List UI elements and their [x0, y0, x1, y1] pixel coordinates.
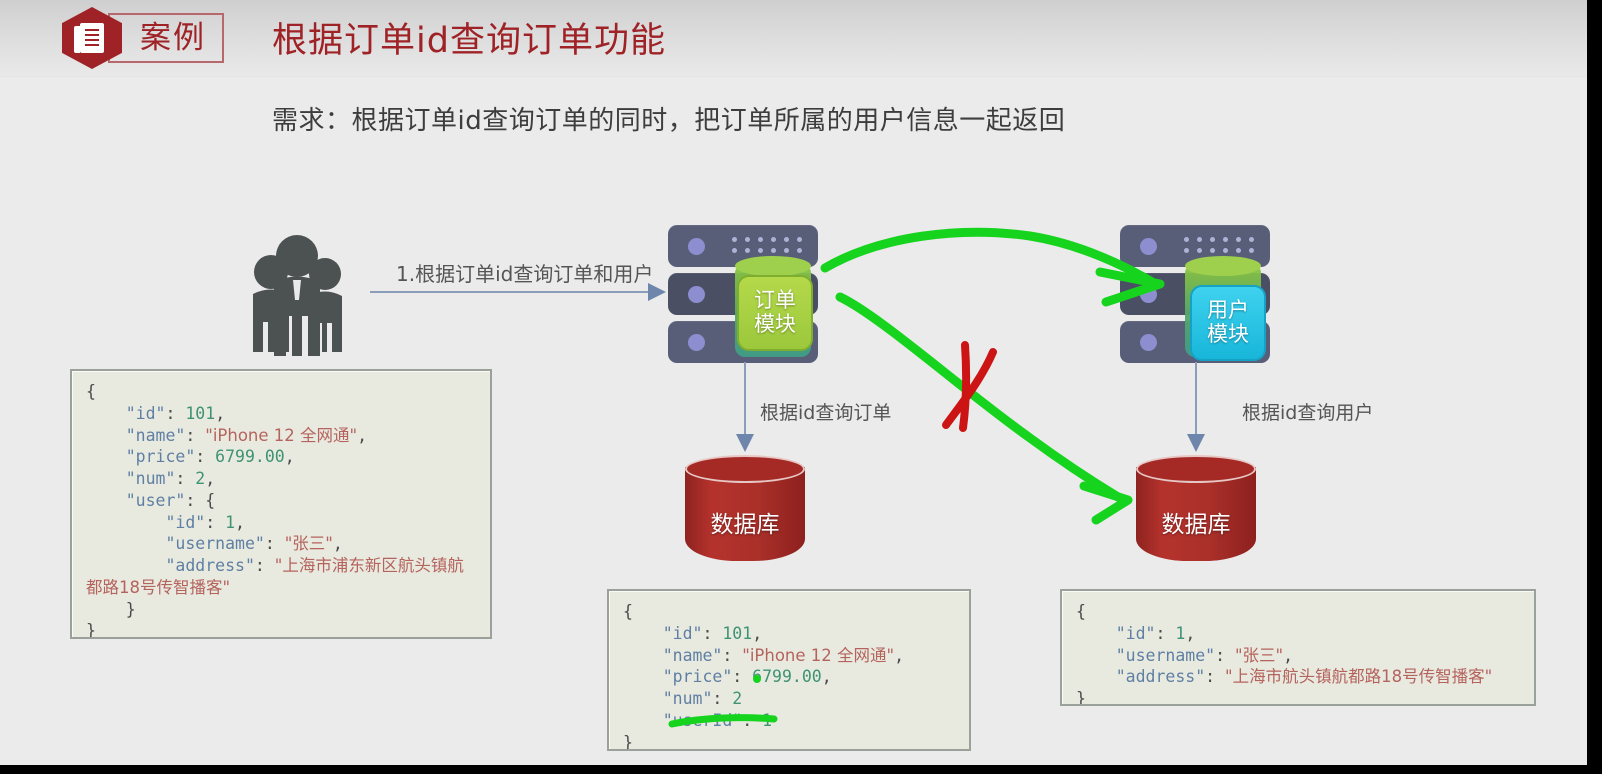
json-line: } — [1076, 688, 1520, 706]
json-token: } — [86, 621, 96, 639]
json-token: : — [742, 711, 762, 730]
user-database-label: 数据库 — [1136, 505, 1256, 539]
json-token: : — [166, 404, 186, 423]
json-token: "id" — [165, 513, 205, 532]
order-module-label: 订单模块 — [737, 275, 813, 351]
json-token: { — [623, 602, 633, 621]
json-line: } — [86, 620, 476, 639]
arrow-label-request: 1.根据订单id查询订单和用户 — [396, 258, 653, 287]
json-line: } — [86, 599, 476, 621]
green-curved-arrow-to-user-server — [825, 232, 1160, 302]
json-token: 1 — [762, 711, 772, 730]
json-line: "username": "张三", — [1076, 645, 1520, 667]
json-token: , — [285, 447, 295, 466]
json-line: "address": "上海市浦东新区航头镇航都路18号传智播客" — [86, 555, 476, 599]
json-line: "price": 6799.00, — [623, 666, 955, 688]
json-token: "num" — [126, 469, 176, 488]
json-line: "id": 101, — [623, 623, 955, 645]
json-token: "price" — [663, 667, 733, 686]
json-token: : — [703, 624, 723, 643]
json-token: , — [894, 646, 904, 665]
page-title: 根据订单id查询订单功能 — [272, 12, 666, 63]
json-token: "username" — [1116, 646, 1215, 665]
letterbox-bottom — [0, 765, 1602, 774]
json-token: 101 — [722, 624, 752, 643]
json-token: , — [215, 404, 225, 423]
json-token: "price" — [126, 447, 196, 466]
json-token: "name" — [663, 646, 723, 665]
letterbox-right — [1587, 0, 1602, 774]
json-token: "id" — [126, 404, 166, 423]
json-token: : — [185, 426, 205, 445]
json-token: : { — [185, 491, 215, 510]
json-token: "上海市浦东新区航头镇航都路18号传智播客" — [86, 556, 464, 597]
json-line: "userId": 1 — [623, 710, 955, 732]
json-line: "price": 6799.00, — [86, 446, 476, 468]
json-line: "name": "iPhone 12 全网通", — [623, 645, 955, 667]
order-database-label: 数据库 — [685, 505, 805, 539]
json-token: "userId" — [663, 711, 742, 730]
json-token: , — [333, 534, 343, 553]
requirement-text: 需求：根据订单id查询订单的同时，把订单所属的用户信息一起返回 — [272, 100, 1065, 137]
json-token: : — [195, 447, 215, 466]
json-token: "iPhone 12 全网通" — [205, 426, 357, 445]
json-block-result: { "id": 101, "name": "iPhone 12 全网通", "p… — [70, 369, 492, 639]
json-token: "张三" — [285, 534, 333, 553]
json-token: "张三" — [1235, 646, 1283, 665]
json-line: "name": "iPhone 12 全网通", — [86, 425, 476, 447]
json-token: , — [822, 667, 832, 686]
json-token: "address" — [1116, 667, 1205, 686]
order-database: 数据库 — [685, 455, 805, 573]
json-token: , — [752, 624, 762, 643]
json-token: { — [1076, 602, 1086, 621]
document-icon — [62, 7, 122, 69]
json-token: : — [1156, 624, 1176, 643]
json-token: : — [265, 534, 285, 553]
json-line: { — [86, 381, 476, 403]
json-token: "id" — [1116, 624, 1156, 643]
json-token: 6799.00 — [215, 447, 285, 466]
json-token: 6799.00 — [752, 667, 822, 686]
json-token: , — [1185, 624, 1195, 643]
json-token: , — [235, 513, 245, 532]
json-token: : — [255, 556, 275, 575]
json-block-order-row: { "id": 101, "name": "iPhone 12 全网通", "p… — [607, 589, 971, 751]
json-token: : — [732, 667, 752, 686]
json-token: } — [623, 733, 633, 751]
json-token: "上海市航头镇航都路18号传智播客" — [1225, 667, 1492, 686]
json-token: , — [357, 426, 367, 445]
json-token: , — [1283, 646, 1293, 665]
json-block-user-row: { "id": 1, "username": "张三", "address": … — [1060, 589, 1536, 706]
json-line: "username": "张三", — [86, 533, 476, 555]
case-badge: 案例 — [62, 7, 224, 69]
json-line: { — [1076, 601, 1520, 623]
json-token: "user" — [126, 491, 186, 510]
json-token: } — [126, 600, 136, 619]
slide-header — [0, 0, 1587, 76]
json-token: 2 — [195, 469, 205, 488]
json-token: : — [1205, 667, 1225, 686]
json-token: "address" — [165, 556, 254, 575]
case-badge-box: 案例 — [108, 13, 224, 63]
json-token: "name" — [126, 426, 186, 445]
json-token: 1 — [1175, 624, 1185, 643]
user-database: 数据库 — [1136, 455, 1256, 573]
json-token: : — [175, 469, 195, 488]
slide-canvas: 案例 根据订单id查询订单功能 需求：根据订单id查询订单的同时，把订单所属的用… — [0, 0, 1602, 774]
json-token: 101 — [185, 404, 215, 423]
json-line: } — [623, 732, 955, 751]
json-token: } — [1076, 689, 1086, 706]
json-line: "num": 2, — [86, 468, 476, 490]
arrow-label-user-query: 根据id查询用户 — [1242, 398, 1373, 425]
json-line: "id": 1, — [86, 512, 476, 534]
json-line: "address": "上海市航头镇航都路18号传智播客" — [1076, 666, 1520, 688]
json-line: "id": 1, — [1076, 623, 1520, 645]
json-token: : — [712, 689, 732, 708]
json-token: { — [86, 382, 96, 401]
arrow-label-order-query: 根据id查询订单 — [760, 398, 891, 425]
json-token: , — [205, 469, 215, 488]
json-token: "id" — [663, 624, 703, 643]
json-line: { — [623, 601, 955, 623]
json-token: "username" — [165, 534, 264, 553]
json-token: "num" — [663, 689, 713, 708]
json-line: "id": 101, — [86, 403, 476, 425]
json-token: : — [1215, 646, 1235, 665]
json-line: "num": 2 — [623, 688, 955, 710]
json-token: 2 — [732, 689, 742, 708]
json-token: : — [722, 646, 742, 665]
json-token: : — [205, 513, 225, 532]
user-module-label: 用户模块 — [1190, 285, 1266, 361]
case-badge-label: 案例 — [140, 23, 206, 54]
json-line: "user": { — [86, 490, 476, 512]
json-token: "iPhone 12 全网通" — [742, 646, 894, 665]
people-group-icon — [233, 228, 363, 358]
red-cross-mark — [946, 345, 993, 428]
header-divider — [0, 76, 1587, 78]
json-token: 1 — [225, 513, 235, 532]
